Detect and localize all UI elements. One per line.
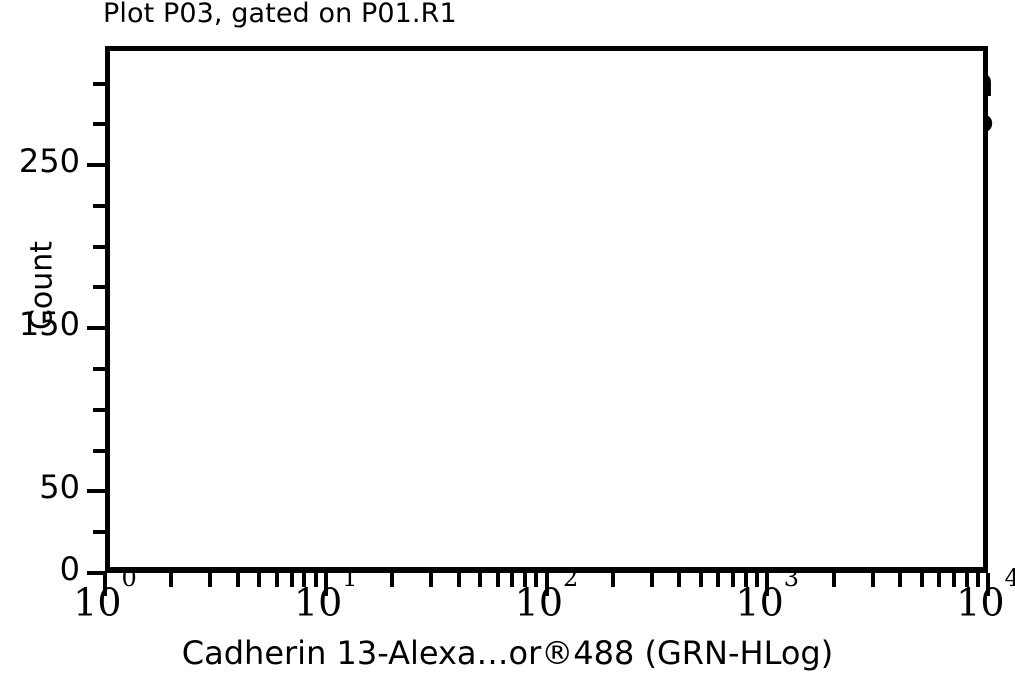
plot-frame	[105, 46, 988, 573]
x-tick-50	[478, 573, 482, 587]
x-tick-500	[699, 573, 703, 587]
x-tick-2000	[832, 573, 836, 587]
x-tick-label-10000: 104	[956, 580, 1015, 625]
x-tick-4000	[898, 573, 902, 587]
x-tick-5000	[920, 573, 924, 587]
y-tick-50	[87, 489, 106, 493]
x-tick-2	[169, 573, 173, 587]
x-axis-label: Cadherin 13-Alexa…or®488 (GRN-HLog)	[0, 634, 1015, 672]
y-tick-label-150: 150	[2, 308, 80, 340]
x-tick-label-1: 100	[73, 580, 137, 625]
page-title: Plot P03, gated on P01.R1	[103, 0, 457, 29]
x-tick-6000	[937, 573, 941, 587]
y-tick-150	[87, 326, 106, 330]
y-tick-label-0: 0	[2, 553, 80, 585]
x-tick-60	[496, 573, 500, 587]
x-tick-3	[208, 573, 212, 587]
x-tick-label-100: 102	[515, 580, 579, 625]
x-tick-5	[257, 573, 261, 587]
x-tick-label-10: 101	[294, 580, 358, 625]
y-tick-label-250: 250	[2, 145, 80, 177]
x-tick-40	[457, 573, 461, 587]
x-tick-3000	[871, 573, 875, 587]
x-tick-20	[390, 573, 394, 587]
x-tick-400	[677, 573, 681, 587]
y-tick-250	[87, 163, 106, 167]
x-tick-4	[236, 573, 240, 587]
x-tick-600	[716, 573, 720, 587]
x-tick-6	[275, 573, 279, 587]
x-tick-300	[650, 573, 654, 587]
x-tick-30	[429, 573, 433, 587]
x-tick-200	[611, 573, 615, 587]
x-tick-label-1000: 103	[735, 580, 799, 625]
y-tick-label-50: 50	[2, 471, 80, 503]
